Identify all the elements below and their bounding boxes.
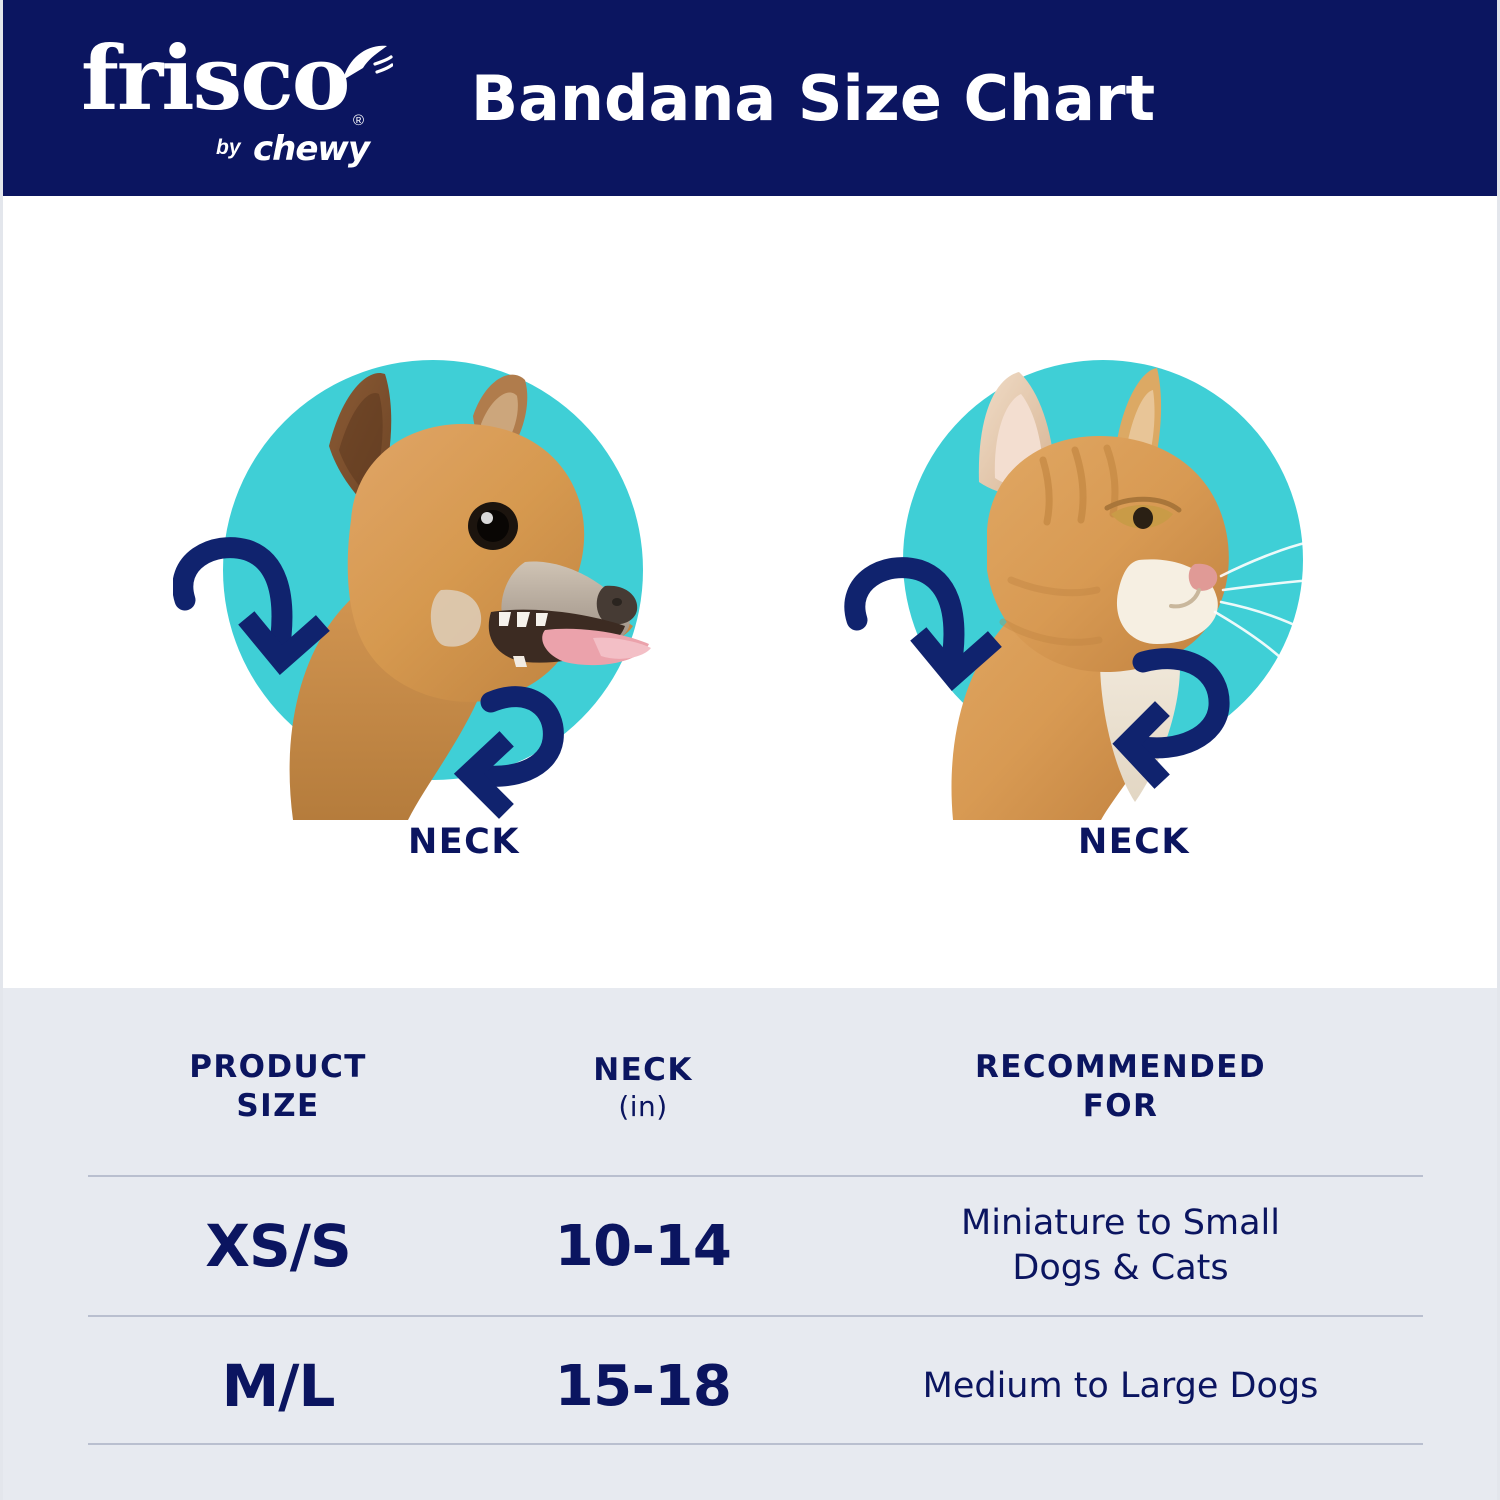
- table-header-row: PRODUCT SIZE NECK (in) RECOMMENDED FOR: [3, 1010, 1500, 1120]
- size-table: PRODUCT SIZE NECK (in) RECOMMENDED FOR X…: [3, 988, 1500, 1500]
- cell-neck-m-l: 15-18: [468, 1317, 818, 1455]
- row-recommended-value: Miniature to Small Dogs & Cats: [961, 1201, 1280, 1291]
- page-title: Bandana Size Chart: [3, 0, 1500, 196]
- row-size-value: M/L: [222, 1352, 335, 1420]
- row-neck-value: 15-18: [555, 1354, 732, 1419]
- size-chart-page: frisco ® by chewy Bandana Size Chart: [0, 0, 1500, 1500]
- dog-illustration: NECK: [173, 350, 693, 910]
- dog-neck-measure-arrow: [173, 350, 693, 820]
- cat-illustration: NECK: [843, 350, 1363, 910]
- header-neck-label: NECK: [593, 1051, 693, 1090]
- header-cell-recommended-for: RECOMMENDED FOR: [818, 1032, 1423, 1142]
- cell-recommended-xs-s: Miniature to Small Dogs & Cats: [818, 1177, 1423, 1315]
- row-recommended-value: Medium to Large Dogs: [923, 1364, 1319, 1409]
- header-cell-product-size: PRODUCT SIZE: [88, 1032, 468, 1142]
- table-row: XS/S 10-14 Miniature to Small Dogs & Cat…: [3, 1177, 1500, 1315]
- dog-neck-label: NECK: [173, 822, 693, 862]
- cell-size-m-l: M/L: [88, 1317, 468, 1455]
- header-product-size-label: PRODUCT SIZE: [189, 1048, 367, 1126]
- page-header: frisco ® by chewy Bandana Size Chart: [3, 0, 1500, 196]
- cell-size-xs-s: XS/S: [88, 1177, 468, 1315]
- header-neck-unit: (in): [618, 1090, 667, 1123]
- cell-neck-xs-s: 10-14: [468, 1177, 818, 1315]
- cat-neck-label: NECK: [843, 822, 1363, 862]
- table-divider-3: [88, 1443, 1423, 1445]
- table-row: M/L 15-18 Medium to Large Dogs: [3, 1317, 1500, 1455]
- cell-recommended-m-l: Medium to Large Dogs: [818, 1317, 1423, 1455]
- illustrations-section: NECK: [3, 196, 1500, 988]
- header-cell-neck: NECK (in): [468, 1032, 818, 1142]
- header-recommended-for-label: RECOMMENDED FOR: [975, 1048, 1266, 1126]
- row-neck-value: 10-14: [555, 1214, 732, 1279]
- row-size-value: XS/S: [205, 1212, 350, 1280]
- cat-neck-measure-arrow: [843, 350, 1363, 820]
